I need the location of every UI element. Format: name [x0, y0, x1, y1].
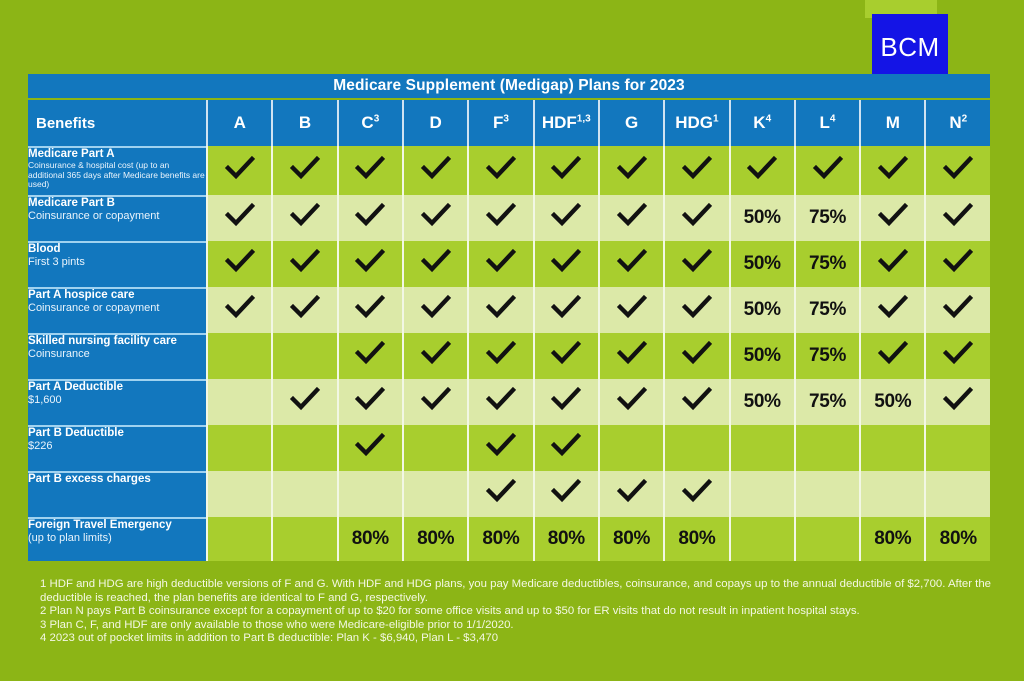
checkmark-icon: [355, 156, 385, 180]
coverage-cell-k: 50%: [729, 195, 794, 241]
plan-column-header-a: A: [206, 100, 271, 146]
checkmark-icon: [943, 387, 973, 411]
benefit-row-label: Part B excess charges: [28, 471, 206, 517]
table-body: Medicare Supplement (Medigap) Plans for …: [28, 74, 990, 561]
benefit-row-label: Foreign Travel Emergency(up to plan limi…: [28, 517, 206, 561]
plan-label: C: [361, 113, 373, 132]
coverage-cell-d: [402, 146, 467, 195]
footnote-2: 2 Plan N pays Part B coinsurance except …: [40, 605, 1000, 619]
coverage-cell-f: [467, 146, 532, 195]
coverage-cell-b: [271, 146, 336, 195]
benefit-subtitle: Coinsurance or copayment: [28, 210, 206, 223]
coverage-cell-hdf: [533, 287, 598, 333]
coverage-cell-l: [794, 517, 859, 561]
checkmark-icon: [682, 387, 712, 411]
coverage-cell-d: [402, 195, 467, 241]
coverage-cell-n: [924, 333, 990, 379]
coverage-cell-hdf: [533, 241, 598, 287]
coverage-cell-hdf: [533, 471, 598, 517]
checkmark-icon: [290, 295, 320, 319]
coverage-cell-f: [467, 195, 532, 241]
checkmark-icon: [225, 156, 255, 180]
table-row: BloodFirst 3 pints50%75%: [28, 241, 990, 287]
coverage-cell-k: 50%: [729, 333, 794, 379]
plan-column-header-m: M: [859, 100, 924, 146]
footnotes-block: 1 HDF and HDG are high deductible versio…: [40, 578, 1000, 646]
plan-column-header-c: C3: [337, 100, 402, 146]
coverage-percent: 75%: [809, 253, 846, 274]
coverage-cell-f: [467, 471, 532, 517]
coverage-cell-hdg: [663, 333, 728, 379]
coverage-cell-a: [206, 241, 271, 287]
plan-label: F: [493, 113, 503, 132]
checkmark-icon: [551, 341, 581, 365]
benefit-title: Part B Deductible: [28, 427, 206, 440]
checkmark-icon: [486, 479, 516, 503]
coverage-cell-l: [794, 425, 859, 471]
checkmark-icon: [355, 387, 385, 411]
benefit-subtitle: Coinsurance & hospital cost (up to an ad…: [28, 161, 206, 190]
benefit-title: Medicare Part B: [28, 197, 206, 210]
checkmark-icon: [682, 203, 712, 227]
coverage-cell-d: [402, 333, 467, 379]
coverage-cell-g: [598, 333, 663, 379]
coverage-percent: 75%: [809, 345, 846, 366]
coverage-cell-m: 50%: [859, 379, 924, 425]
checkmark-icon: [682, 249, 712, 273]
footnote-1: 1 HDF and HDG are high deductible versio…: [40, 578, 1000, 605]
coverage-cell-c: [337, 195, 402, 241]
plan-label: G: [625, 113, 638, 132]
plan-column-header-k: K4: [729, 100, 794, 146]
coverage-cell-a: [206, 287, 271, 333]
checkmark-icon: [943, 249, 973, 273]
plan-footnote-ref: 1: [713, 113, 719, 124]
benefit-row-label: Medicare Part ACoinsurance & hospital co…: [28, 146, 206, 195]
coverage-cell-hdg: [663, 195, 728, 241]
plan-footnote-ref: 3: [374, 113, 380, 124]
checkmark-icon: [486, 341, 516, 365]
coverage-cell-m: [859, 425, 924, 471]
checkmark-icon: [421, 295, 451, 319]
coverage-cell-hdg: [663, 471, 728, 517]
plan-label: N: [949, 113, 961, 132]
plan-label: A: [234, 113, 246, 132]
plan-footnote-ref: 2: [962, 113, 968, 124]
coverage-percent: 75%: [809, 299, 846, 320]
checkmark-icon: [943, 156, 973, 180]
coverage-cell-a: [206, 333, 271, 379]
coverage-percent: 80%: [678, 528, 715, 549]
table-row: Part B Deductible$226: [28, 425, 990, 471]
benefit-title: Part B excess charges: [28, 473, 206, 486]
coverage-cell-d: [402, 241, 467, 287]
coverage-cell-hdf: 80%: [533, 517, 598, 561]
coverage-cell-a: [206, 146, 271, 195]
checkmark-icon: [486, 295, 516, 319]
plan-footnote-ref: 4: [766, 113, 772, 124]
checkmark-icon: [551, 433, 581, 457]
coverage-cell-n: [924, 379, 990, 425]
benefit-subtitle: $1,600: [28, 394, 206, 407]
coverage-cell-k: 50%: [729, 379, 794, 425]
coverage-cell-g: [598, 425, 663, 471]
coverage-cell-a: [206, 425, 271, 471]
coverage-cell-hdf: [533, 333, 598, 379]
coverage-cell-c: [337, 333, 402, 379]
benefit-row-label: Part A Deductible$1,600: [28, 379, 206, 425]
checkmark-icon: [355, 433, 385, 457]
checkmark-icon: [290, 203, 320, 227]
benefit-subtitle: Coinsurance: [28, 348, 206, 361]
coverage-cell-a: [206, 517, 271, 561]
benefits-column-header: Benefits: [28, 100, 206, 146]
coverage-cell-c: [337, 425, 402, 471]
checkmark-icon: [355, 341, 385, 365]
medigap-plans-table: Medicare Supplement (Medigap) Plans for …: [28, 74, 990, 561]
plan-label: HDF: [542, 113, 577, 132]
checkmark-icon: [551, 156, 581, 180]
coverage-cell-hdf: [533, 379, 598, 425]
plan-label: HDG: [675, 113, 713, 132]
coverage-percent: 50%: [744, 253, 781, 274]
coverage-cell-c: [337, 241, 402, 287]
benefit-title: Part A Deductible: [28, 381, 206, 394]
checkmark-icon: [617, 156, 647, 180]
benefit-row-label: Part A hospice careCoinsurance or copaym…: [28, 287, 206, 333]
checkmark-icon: [421, 341, 451, 365]
table-title-row: Medicare Supplement (Medigap) Plans for …: [28, 74, 990, 100]
checkmark-icon: [617, 249, 647, 273]
coverage-cell-n: 80%: [924, 517, 990, 561]
checkmark-icon: [421, 387, 451, 411]
footnote-3: 3 Plan C, F, and HDF are only available …: [40, 619, 1000, 633]
plan-column-header-g: G: [598, 100, 663, 146]
coverage-cell-c: 80%: [337, 517, 402, 561]
checkmark-icon: [421, 249, 451, 273]
coverage-cell-f: 80%: [467, 517, 532, 561]
coverage-cell-g: [598, 379, 663, 425]
coverage-cell-n: [924, 195, 990, 241]
coverage-cell-b: [271, 425, 336, 471]
checkmark-icon: [225, 295, 255, 319]
coverage-cell-g: 80%: [598, 517, 663, 561]
coverage-cell-g: [598, 287, 663, 333]
benefit-title: Blood: [28, 243, 206, 256]
coverage-cell-l: 75%: [794, 379, 859, 425]
checkmark-icon: [878, 249, 908, 273]
coverage-cell-m: [859, 287, 924, 333]
benefit-row-label: BloodFirst 3 pints: [28, 241, 206, 287]
coverage-cell-f: [467, 241, 532, 287]
coverage-cell-b: [271, 241, 336, 287]
coverage-cell-g: [598, 471, 663, 517]
benefit-row-label: Part B Deductible$226: [28, 425, 206, 471]
checkmark-icon: [290, 387, 320, 411]
plans-table-wrapper: Medicare Supplement (Medigap) Plans for …: [28, 74, 990, 561]
coverage-cell-c: [337, 471, 402, 517]
coverage-percent: 50%: [744, 391, 781, 412]
coverage-cell-m: [859, 333, 924, 379]
checkmark-icon: [486, 249, 516, 273]
coverage-percent: 80%: [548, 528, 585, 549]
plan-column-header-f: F3: [467, 100, 532, 146]
coverage-cell-k: [729, 146, 794, 195]
coverage-cell-n: [924, 146, 990, 195]
coverage-cell-l: 75%: [794, 333, 859, 379]
plan-footnote-ref: 4: [830, 113, 836, 124]
plan-column-header-b: B: [271, 100, 336, 146]
coverage-cell-b: [271, 195, 336, 241]
checkmark-icon: [617, 341, 647, 365]
coverage-cell-a: [206, 471, 271, 517]
coverage-cell-m: [859, 471, 924, 517]
checkmark-icon: [551, 387, 581, 411]
coverage-cell-l: 75%: [794, 287, 859, 333]
plan-column-header-hdf: HDF1,3: [533, 100, 598, 146]
checkmark-icon: [355, 203, 385, 227]
coverage-cell-n: [924, 287, 990, 333]
checkmark-icon: [290, 249, 320, 273]
coverage-percent: 80%: [874, 528, 911, 549]
checkmark-icon: [878, 156, 908, 180]
coverage-cell-d: [402, 471, 467, 517]
checkmark-icon: [682, 341, 712, 365]
coverage-cell-k: 50%: [729, 241, 794, 287]
table-row: Part B excess charges: [28, 471, 990, 517]
coverage-cell-c: [337, 379, 402, 425]
coverage-percent: 50%: [744, 345, 781, 366]
coverage-cell-c: [337, 287, 402, 333]
coverage-percent: 80%: [417, 528, 454, 549]
checkmark-icon: [551, 295, 581, 319]
checkmark-icon: [421, 156, 451, 180]
coverage-cell-m: [859, 241, 924, 287]
coverage-percent: 80%: [352, 528, 389, 549]
checkmark-icon: [878, 341, 908, 365]
benefit-title: Foreign Travel Emergency: [28, 519, 206, 532]
coverage-cell-m: [859, 195, 924, 241]
table-row: Medicare Part BCoinsurance or copayment5…: [28, 195, 990, 241]
coverage-cell-b: [271, 471, 336, 517]
footnote-4: 4 2023 out of pocket limits in addition …: [40, 632, 1000, 646]
plan-label: M: [886, 113, 900, 132]
coverage-percent: 75%: [809, 391, 846, 412]
coverage-cell-a: [206, 195, 271, 241]
checkmark-icon: [813, 156, 843, 180]
benefit-title: Part A hospice care: [28, 289, 206, 302]
coverage-percent: 75%: [809, 207, 846, 228]
coverage-cell-d: [402, 379, 467, 425]
coverage-cell-k: 50%: [729, 287, 794, 333]
coverage-cell-f: [467, 287, 532, 333]
benefit-subtitle: First 3 pints: [28, 256, 206, 269]
plan-column-header-n: N2: [924, 100, 990, 146]
coverage-percent: 50%: [874, 391, 911, 412]
checkmark-icon: [943, 341, 973, 365]
coverage-cell-hdg: [663, 425, 728, 471]
checkmark-icon: [355, 295, 385, 319]
coverage-cell-hdf: [533, 195, 598, 241]
coverage-cell-l: 75%: [794, 241, 859, 287]
coverage-cell-b: [271, 517, 336, 561]
checkmark-icon: [943, 203, 973, 227]
coverage-cell-n: [924, 471, 990, 517]
coverage-cell-hdg: [663, 287, 728, 333]
coverage-cell-b: [271, 379, 336, 425]
checkmark-icon: [225, 203, 255, 227]
plan-label: D: [430, 113, 442, 132]
plan-footnote-ref: 1,3: [577, 113, 591, 124]
checkmark-icon: [617, 295, 647, 319]
coverage-cell-n: [924, 241, 990, 287]
checkmark-icon: [617, 479, 647, 503]
coverage-cell-l: [794, 146, 859, 195]
table-row: Part A Deductible$1,60050%75%50%: [28, 379, 990, 425]
checkmark-icon: [551, 249, 581, 273]
checkmark-icon: [747, 156, 777, 180]
coverage-cell-l: [794, 471, 859, 517]
checkmark-icon: [682, 156, 712, 180]
table-row: Medicare Part ACoinsurance & hospital co…: [28, 146, 990, 195]
plan-column-header-hdg: HDG1: [663, 100, 728, 146]
coverage-cell-c: [337, 146, 402, 195]
coverage-cell-m: [859, 146, 924, 195]
coverage-cell-g: [598, 241, 663, 287]
coverage-cell-g: [598, 195, 663, 241]
checkmark-icon: [551, 203, 581, 227]
checkmark-icon: [486, 156, 516, 180]
coverage-percent: 80%: [482, 528, 519, 549]
coverage-cell-d: [402, 425, 467, 471]
coverage-cell-d: [402, 287, 467, 333]
coverage-cell-a: [206, 379, 271, 425]
bcm-logo: BCM: [872, 14, 948, 81]
coverage-cell-n: [924, 425, 990, 471]
coverage-cell-hdg: [663, 379, 728, 425]
table-row: Skilled nursing facility careCoinsurance…: [28, 333, 990, 379]
coverage-cell-b: [271, 333, 336, 379]
plan-column-header-d: D: [402, 100, 467, 146]
coverage-percent: 50%: [744, 207, 781, 228]
benefit-subtitle: Coinsurance or copayment: [28, 302, 206, 315]
benefit-title: Skilled nursing facility care: [28, 335, 206, 348]
coverage-cell-f: [467, 379, 532, 425]
benefit-subtitle: (up to plan limits): [28, 532, 206, 545]
coverage-percent: 50%: [744, 299, 781, 320]
plan-column-header-l: L4: [794, 100, 859, 146]
benefit-subtitle: $226: [28, 440, 206, 453]
checkmark-icon: [290, 156, 320, 180]
checkmark-icon: [551, 479, 581, 503]
checkmark-icon: [878, 295, 908, 319]
coverage-percent: 80%: [613, 528, 650, 549]
coverage-cell-b: [271, 287, 336, 333]
coverage-cell-k: [729, 425, 794, 471]
plan-label: K: [753, 113, 765, 132]
coverage-cell-m: 80%: [859, 517, 924, 561]
checkmark-icon: [486, 203, 516, 227]
checkmark-icon: [617, 203, 647, 227]
checkmark-icon: [486, 387, 516, 411]
checkmark-icon: [682, 479, 712, 503]
coverage-cell-f: [467, 425, 532, 471]
coverage-cell-hdg: 80%: [663, 517, 728, 561]
benefit-row-label: Medicare Part BCoinsurance or copayment: [28, 195, 206, 241]
checkmark-icon: [486, 433, 516, 457]
coverage-cell-k: [729, 517, 794, 561]
coverage-cell-hdg: [663, 241, 728, 287]
column-header-row: Benefits ABC3DF3HDF1,3GHDG1K4L4MN2: [28, 100, 990, 146]
checkmark-icon: [682, 295, 712, 319]
coverage-percent: 80%: [940, 528, 977, 549]
coverage-cell-f: [467, 333, 532, 379]
coverage-cell-hdg: [663, 146, 728, 195]
plan-label: L: [820, 113, 830, 132]
plan-label: B: [299, 113, 311, 132]
coverage-cell-hdf: [533, 146, 598, 195]
coverage-cell-k: [729, 471, 794, 517]
checkmark-icon: [355, 249, 385, 273]
coverage-cell-g: [598, 146, 663, 195]
checkmark-icon: [225, 249, 255, 273]
logo-text: BCM: [880, 32, 939, 63]
checkmark-icon: [943, 295, 973, 319]
checkmark-icon: [617, 387, 647, 411]
table-row: Part A hospice careCoinsurance or copaym…: [28, 287, 990, 333]
plan-footnote-ref: 3: [503, 113, 509, 124]
checkmark-icon: [878, 203, 908, 227]
benefit-row-label: Skilled nursing facility careCoinsurance: [28, 333, 206, 379]
checkmark-icon: [421, 203, 451, 227]
table-title: Medicare Supplement (Medigap) Plans for …: [28, 74, 990, 100]
coverage-cell-d: 80%: [402, 517, 467, 561]
coverage-cell-hdf: [533, 425, 598, 471]
coverage-cell-l: 75%: [794, 195, 859, 241]
table-row: Foreign Travel Emergency(up to plan limi…: [28, 517, 990, 561]
